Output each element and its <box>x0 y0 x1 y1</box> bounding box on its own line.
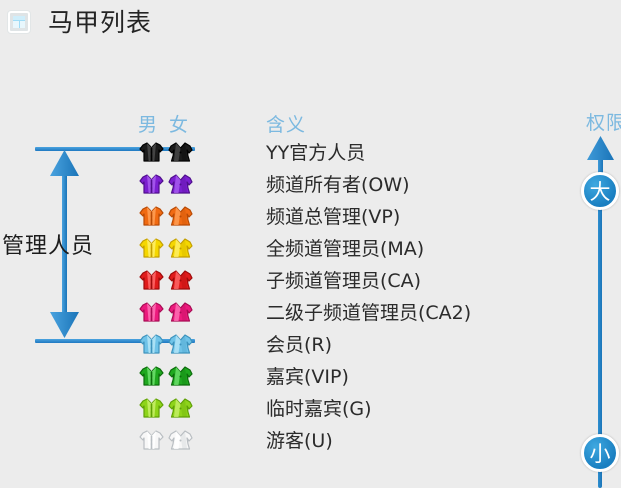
female-vest-icon <box>168 364 193 388</box>
female-vest-icon <box>168 204 193 228</box>
female-vest-icon <box>168 268 193 292</box>
male-vest-icon <box>139 300 164 324</box>
page-header: 马甲列表 <box>0 0 621 44</box>
vest-icons <box>139 172 201 196</box>
vest-icons <box>139 364 201 388</box>
column-header-power: 权限 <box>586 108 621 135</box>
male-vest-icon <box>139 172 164 196</box>
table-row[interactable]: 频道总管理(VP) <box>0 200 621 231</box>
male-vest-icon <box>139 364 164 388</box>
column-header-meaning: 含义 <box>266 110 306 137</box>
female-vest-icon <box>168 236 193 260</box>
table-row[interactable]: 二级子频道管理员(CA2) <box>0 296 621 327</box>
vest-icons <box>139 396 201 420</box>
female-vest-icon <box>168 300 193 324</box>
vest-label: 全频道管理员(MA) <box>266 234 424 261</box>
table-row[interactable]: YY官方人员 <box>0 136 621 167</box>
column-header-gender: 男 女 <box>138 110 191 137</box>
table-row[interactable]: 频道所有者(OW) <box>0 168 621 199</box>
vest-icons <box>139 332 201 356</box>
vest-icons <box>139 268 201 292</box>
vest-label: YY官方人员 <box>266 138 365 165</box>
vest-label: 会员(R) <box>266 330 332 357</box>
table-grid-icon <box>8 11 30 33</box>
male-vest-icon <box>139 204 164 228</box>
table-row[interactable]: 会员(R) <box>0 328 621 359</box>
female-vest-icon <box>168 428 193 452</box>
vest-label: 频道所有者(OW) <box>266 170 410 197</box>
male-vest-icon <box>139 332 164 356</box>
female-vest-icon <box>168 332 193 356</box>
female-vest-icon <box>168 140 193 164</box>
vest-icons <box>139 300 201 324</box>
male-vest-icon <box>139 236 164 260</box>
vest-label: 二级子频道管理员(CA2) <box>266 298 471 325</box>
male-vest-icon <box>139 396 164 420</box>
female-vest-icon <box>168 396 193 420</box>
male-vest-icon <box>139 428 164 452</box>
vest-label: 频道总管理(VP) <box>266 202 400 229</box>
vest-label: 临时嘉宾(G) <box>266 394 372 421</box>
male-vest-icon <box>139 268 164 292</box>
vest-icons <box>139 140 201 164</box>
vest-icons <box>139 236 201 260</box>
male-vest-icon <box>139 140 164 164</box>
table-row[interactable]: 全频道管理员(MA) <box>0 232 621 263</box>
table-row[interactable]: 游客(U) <box>0 424 621 455</box>
female-vest-icon <box>168 172 193 196</box>
vest-icons <box>139 204 201 228</box>
vest-list: YY官方人员 频道所有者(OW) 频道总管理(VP) <box>0 0 621 488</box>
vest-label: 嘉宾(VIP) <box>266 362 349 389</box>
table-row[interactable]: 临时嘉宾(G) <box>0 392 621 423</box>
table-row[interactable]: 嘉宾(VIP) <box>0 360 621 391</box>
page-title: 马甲列表 <box>48 10 152 35</box>
vest-label: 子频道管理员(CA) <box>266 266 421 293</box>
table-row[interactable]: 子频道管理员(CA) <box>0 264 621 295</box>
vest-icons <box>139 428 201 452</box>
vest-label: 游客(U) <box>266 426 333 453</box>
